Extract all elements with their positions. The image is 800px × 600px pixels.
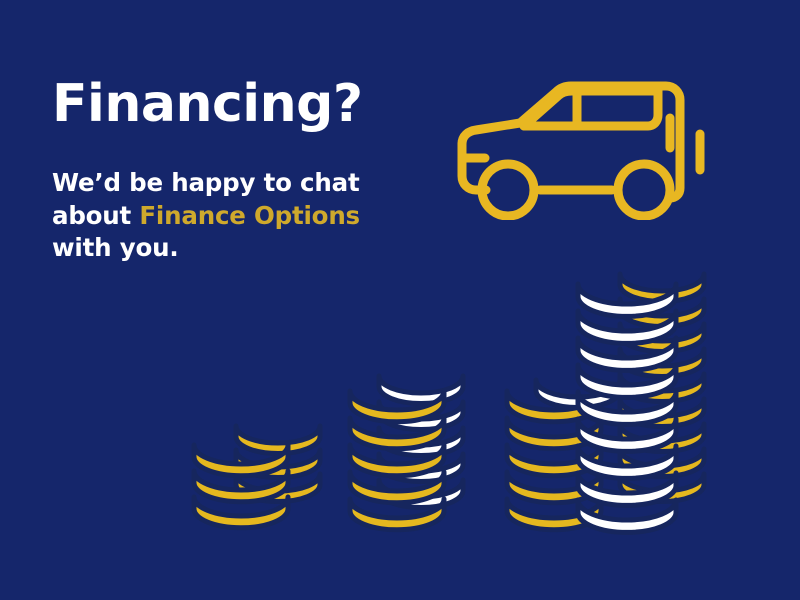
coin [194, 471, 288, 502]
subhead-line-3: with you. [52, 233, 178, 262]
coin [236, 474, 320, 502]
coin [350, 391, 444, 422]
rear-wheel-icon [618, 164, 670, 216]
coin [620, 324, 704, 352]
coin-stack-medium-back-stack [379, 376, 463, 508]
coin [620, 399, 704, 427]
coin [620, 424, 704, 452]
coin-stack-large-center-white-stack [578, 284, 676, 532]
text-block: Financing? We’d be happy to chat about F… [52, 78, 382, 265]
coin [350, 418, 444, 449]
coin [236, 426, 320, 454]
coin [578, 284, 676, 316]
coin [578, 419, 676, 451]
coin [194, 497, 288, 528]
coin [379, 454, 463, 482]
coin [350, 472, 444, 503]
coin [578, 365, 676, 397]
coin-groups [194, 274, 704, 532]
suv-outline-group [462, 86, 700, 216]
coin [350, 499, 444, 530]
coin [578, 338, 676, 370]
coin [620, 474, 704, 502]
coin [620, 349, 704, 377]
subhead-line-1: We’d be happy to chat [52, 168, 359, 197]
coin [236, 450, 320, 478]
coin [578, 446, 676, 478]
coin [578, 392, 676, 424]
coin-stack-medium-front-stack [350, 391, 444, 530]
coin-stack-large-white-back-coin [536, 380, 620, 408]
coin [379, 428, 463, 456]
coin-stack-large [507, 274, 704, 532]
coin [578, 311, 676, 343]
body-upper-outline [462, 86, 680, 198]
coin [620, 299, 704, 327]
suv-icon [452, 78, 720, 220]
coin [350, 445, 444, 476]
promo-canvas: Financing? We’d be happy to chat about F… [0, 0, 800, 600]
coin [620, 274, 704, 302]
coin [620, 449, 704, 477]
coin [620, 374, 704, 402]
coin [507, 391, 601, 422]
page-title: Financing? [52, 78, 382, 131]
coin [194, 445, 288, 476]
coin [379, 480, 463, 508]
coin-stack-medium [350, 376, 463, 530]
coin [536, 380, 620, 408]
coin [507, 472, 601, 503]
subhead-text: We’d be happy to chat about Finance Opti… [52, 167, 382, 265]
coin [578, 500, 676, 532]
coin [507, 499, 601, 530]
coin [507, 418, 601, 449]
coin-stack-small-back-stack [236, 426, 320, 502]
coin [379, 402, 463, 430]
coin-stack-small [194, 426, 320, 528]
coin [379, 376, 463, 404]
coin-stack-small-front-stack [194, 445, 288, 528]
coin [578, 473, 676, 505]
coin [507, 445, 601, 476]
subhead-line-2-prefix: about [52, 201, 139, 230]
roof-line [524, 91, 658, 126]
coin-stack-large-left-gold-stack [507, 391, 601, 530]
coin-stack-large-back-right-gold-stack [620, 274, 704, 502]
finance-options-highlight: Finance Options [139, 201, 360, 230]
car-illustration [452, 78, 720, 220]
